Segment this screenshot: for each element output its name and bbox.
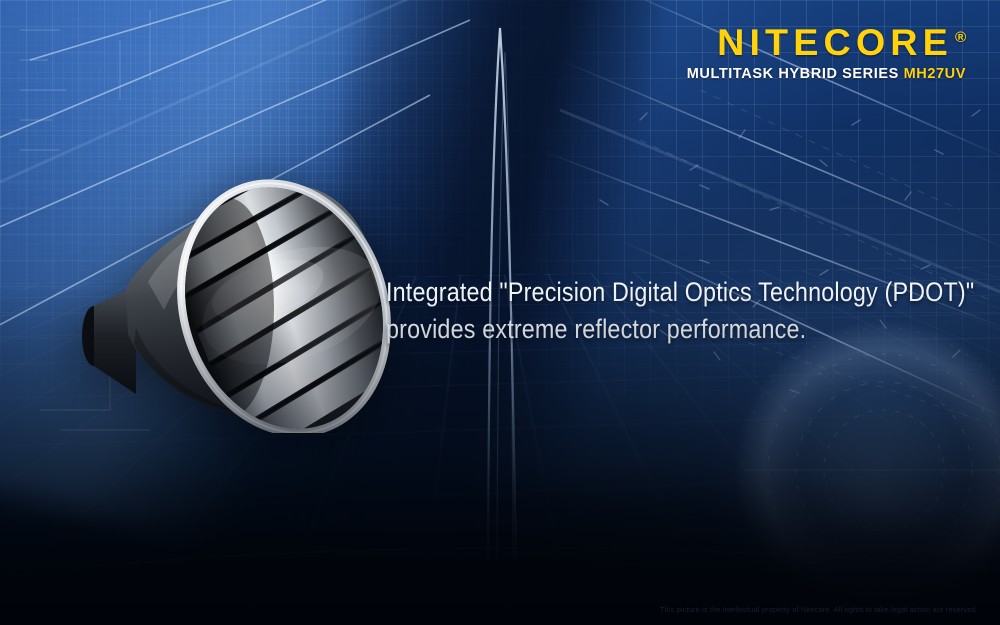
copyright-disclaimer: This picture is the intellectual propert… [660, 605, 978, 614]
brand-tagline-text: MULTITASK HYBRID SERIES [687, 66, 899, 82]
product-image-reflector [78, 158, 398, 433]
radar-glow [734, 320, 1000, 620]
brand-name-text: NITECORE [717, 22, 953, 63]
product-model: MH27UV [904, 66, 966, 82]
brand-logo: NITECORE® MULTITASK HYBRID SERIES MH27UV [687, 24, 966, 82]
registered-trademark-icon: ® [955, 29, 966, 46]
brand-tagline: MULTITASK HYBRID SERIES MH27UV [687, 66, 966, 82]
headline-line-1: Integrated "Precision Digital Optics Tec… [386, 274, 914, 311]
headline-text: Integrated "Precision Digital Optics Tec… [386, 274, 914, 347]
brand-name: NITECORE® [717, 24, 966, 61]
promo-banner: NITECORE® MULTITASK HYBRID SERIES MH27UV… [0, 0, 1000, 625]
headline-line-2: provides extreme reflector performance. [386, 311, 914, 348]
